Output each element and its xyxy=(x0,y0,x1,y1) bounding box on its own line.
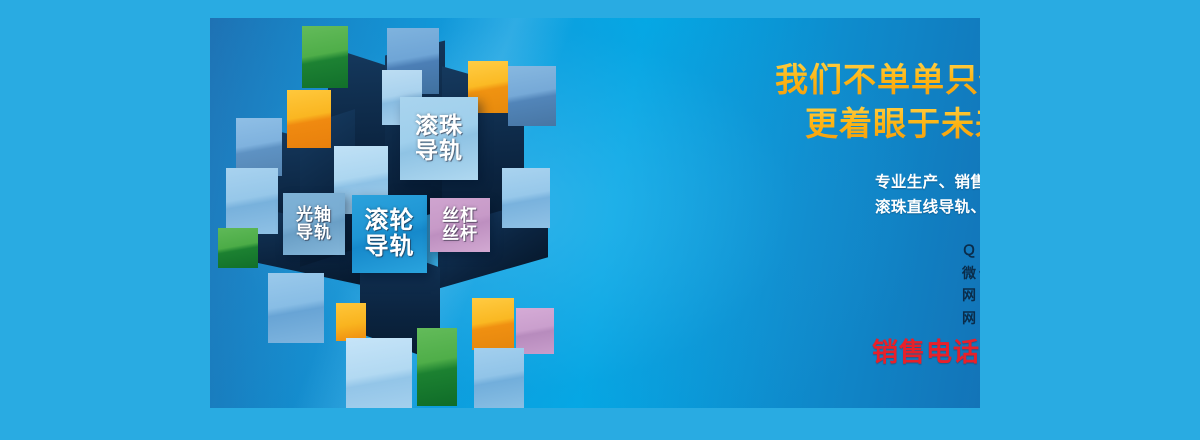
cube-face xyxy=(302,26,348,88)
cube-green-top xyxy=(302,26,348,88)
cube-face xyxy=(336,303,366,341)
cube-face xyxy=(226,168,278,234)
description-line-2: 滚珠直线导轨、圆柱光轴导轨、丝杠丝杆、直 xyxy=(848,195,980,220)
product-box-gunzhu-daogui[interactable]: 滚珠 导轨 xyxy=(400,97,478,180)
contact-label-qq: Ｑ Ｑ： xyxy=(962,240,980,263)
product-box-sigang-sigan[interactable]: 丝杠 丝杆 xyxy=(430,198,490,252)
headline-line-2: 更着眼于未来与您长期合作 更着眼于未来与您长期合作 xyxy=(805,102,980,146)
product-box-line-1: 丝杠 xyxy=(442,207,478,225)
product-box-line-2: 导轨 xyxy=(415,139,463,164)
product-box-line-1: 滚轮 xyxy=(365,208,415,234)
sales-phone-label: 销售电话： xyxy=(872,338,980,368)
cube-face xyxy=(472,298,514,350)
product-box-line-1: 光轴 xyxy=(296,206,332,224)
cube-orange-lower xyxy=(336,303,366,341)
cube-green-left-low xyxy=(218,228,258,268)
cube-lightblue-bottom xyxy=(346,338,412,408)
product-box-line-2: 导轨 xyxy=(296,224,332,242)
cube-face xyxy=(502,168,550,228)
cube-face xyxy=(268,273,324,343)
cube-face xyxy=(346,338,412,408)
description-text: 专业生产、销售内外置双轴心滚轮直线导轨、 滚珠直线导轨、圆柱光轴导轨、丝杠丝杆、… xyxy=(848,170,980,245)
cube-cluster-graphic: 滚珠 导轨 光轴 导轨 滚轮 导轨 丝杠 丝杆 xyxy=(210,18,570,408)
description-line-3: 线轴承等。 xyxy=(848,220,980,245)
cube-face xyxy=(218,228,258,268)
contact-label-wechat: 微信号： xyxy=(962,263,980,286)
headline-line-2-text: 更着眼于未来与您长期合作 xyxy=(805,104,980,143)
cube-face xyxy=(474,348,524,408)
sales-phone[interactable]: 销售电话：18357860469 xyxy=(872,332,980,369)
cube-blue-farright xyxy=(508,66,556,126)
product-box-guangzhou-daogui[interactable]: 光轴 导轨 xyxy=(283,193,345,255)
product-box-line-2: 导轨 xyxy=(365,234,415,260)
cube-lightblue-mid xyxy=(226,168,278,234)
cube-blue-bottom-right xyxy=(474,348,524,408)
headline: 我们不单单只做您目前的订单 我们不单单只做您目前的订单 更着眼于未来与您长期合作… xyxy=(765,58,980,146)
banner-panel: 滚珠 导轨 光轴 导轨 滚轮 导轨 丝杠 丝杆 我们不单单只做您目前的订单 我们… xyxy=(210,18,980,408)
description-line-1: 专业生产、销售内外置双轴心滚轮直线导轨、 xyxy=(848,170,980,195)
contact-row-website-1: 网 址： Www.Zxdgzc.Com xyxy=(962,285,980,308)
cube-blue-lower-left xyxy=(268,273,324,343)
cube-face xyxy=(287,90,331,148)
promo-banner: 滚珠 导轨 光轴 导轨 滚轮 导轨 丝杠 丝杆 我们不单单只做您目前的订单 我们… xyxy=(0,0,1200,440)
cube-orange-upper xyxy=(287,90,331,148)
cube-face xyxy=(417,328,457,406)
contact-row-website-2: 网 址： Www.Cnzxdg.Com xyxy=(962,308,980,331)
headline-line-1-text: 我们不单单只做您目前的订单 xyxy=(775,60,980,99)
contact-row-qq: Ｑ Ｑ： 80286553 xyxy=(962,240,980,263)
headline-line-1: 我们不单单只做您目前的订单 我们不单单只做您目前的订单 xyxy=(775,58,980,102)
cube-green-bottom xyxy=(417,328,457,406)
product-box-line-2: 丝杆 xyxy=(442,225,478,243)
contact-row-wechat: 微信号： zxdgzc （直线导轨轴承） xyxy=(962,263,980,286)
contact-label-website-2: 网 址： xyxy=(962,308,980,331)
contact-info-block: Ｑ Ｑ： 80286553 微信号： zxdgzc （直线导轨轴承） 网 址： … xyxy=(962,240,980,331)
product-box-gunlun-daogui[interactable]: 滚轮 导轨 xyxy=(352,195,427,273)
cube-face xyxy=(508,66,556,126)
cube-blue-right-mid xyxy=(502,168,550,228)
contact-label-website-1: 网 址： xyxy=(962,285,980,308)
product-box-line-1: 滚珠 xyxy=(415,114,463,139)
cube-orange-bottom-right xyxy=(472,298,514,350)
